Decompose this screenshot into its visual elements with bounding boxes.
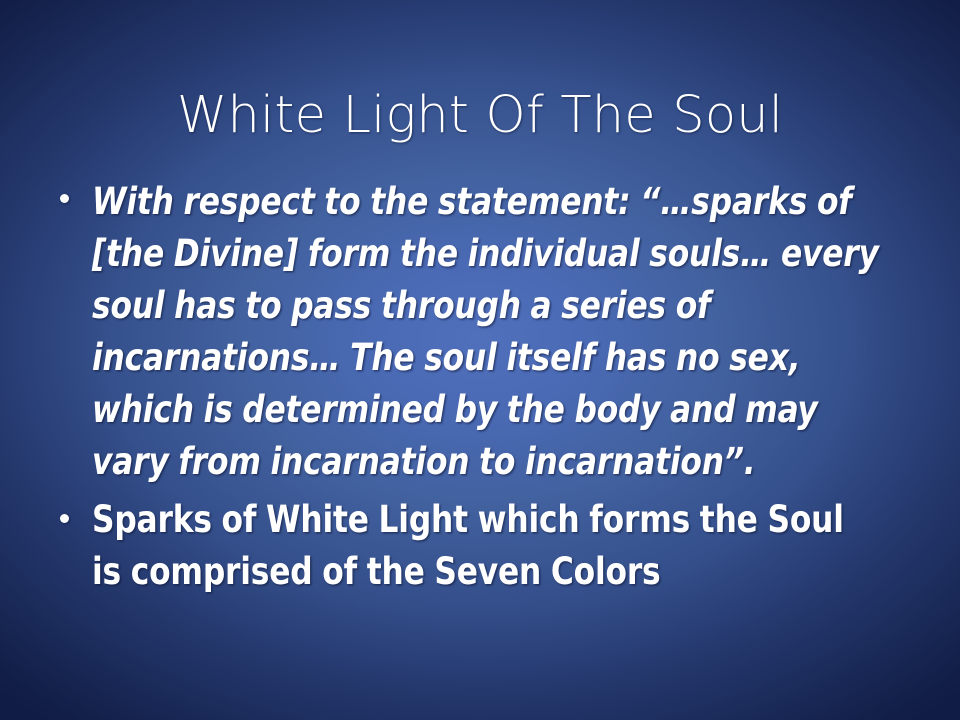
bullet-point-icon (60, 514, 69, 523)
slide-title-block: White Light Of The Soul (0, 52, 960, 180)
bullet-text: Sparks of White Light which forms the So… (92, 494, 882, 598)
bullet-text: With respect to the statement: “…sparks … (92, 176, 882, 488)
page-title: White Light Of The Soul (177, 86, 783, 146)
bullet-point-icon (60, 194, 69, 203)
list-item: With respect to the statement: “…sparks … (52, 176, 932, 488)
slide-body: With respect to the statement: “…sparks … (52, 176, 932, 600)
list-item: Sparks of White Light which forms the So… (52, 494, 932, 598)
presentation-slide: White Light Of The Soul With respect to … (0, 0, 960, 720)
